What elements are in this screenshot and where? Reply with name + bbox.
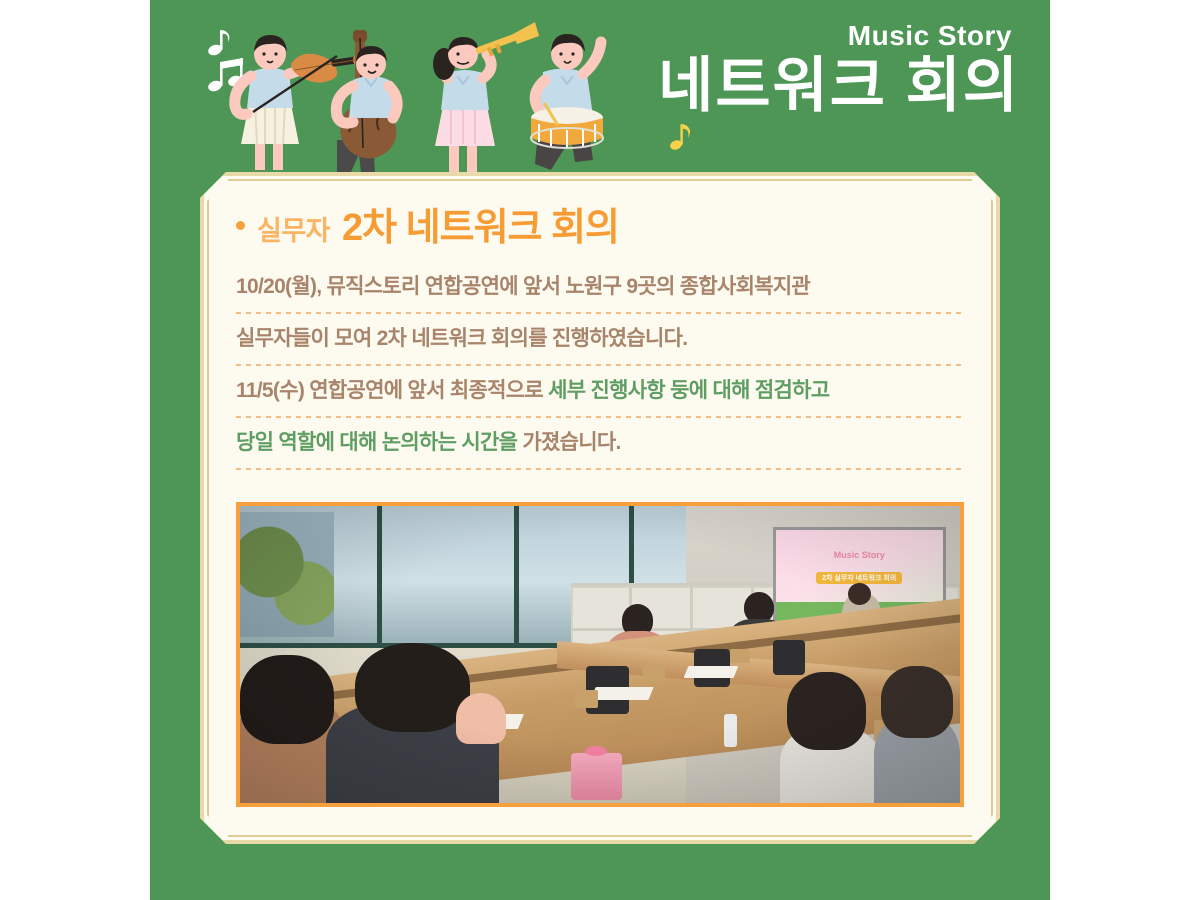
meeting-room-photo: Music Story 2차 실무자 네트워크 회의 <box>236 502 964 807</box>
cello-player <box>336 30 397 172</box>
body-line: 당일 역할에 대해 논의하는 시간을 가졌습니다. <box>236 426 964 478</box>
body-line-text: 실무자들이 모여 2차 네트워크 회의를 진행하였습니다. <box>236 322 964 356</box>
poster-header: Music Story 네트워크 회의 <box>150 0 1050 175</box>
photo-content: Music Story 2차 실무자 네트워크 회의 <box>240 506 960 803</box>
card-heading: 실무자 2차 네트워크 회의 <box>236 196 619 251</box>
trumpet-icon <box>475 22 539 56</box>
body-line: 10/20(월), 뮤직스토리 연합공연에 앞서 노원구 9곳의 종합사회복지관 <box>236 270 964 322</box>
card-heading-sub: 실무자 <box>257 209 330 248</box>
green-poster: Music Story 네트워크 회의 <box>150 0 1050 900</box>
dashed-rule <box>236 468 964 470</box>
music-note-title-icon <box>668 112 702 156</box>
content-card: 실무자 2차 네트워크 회의 10/20(월), 뮤직스토리 연합공연에 앞서 … <box>200 172 1000 844</box>
poster-canvas: Music Story 네트워크 회의 <box>0 0 1200 900</box>
bullet-icon <box>236 221 245 230</box>
header-title-group: Music Story 네트워크 회의 <box>550 22 1020 117</box>
body-line: 11/5(수) 연합공연에 앞서 최종적으로 세부 진행사항 둥에 대해 점검하… <box>236 374 964 426</box>
body-line-text: 11/5(수) 연합공연에 앞서 최종적으로 세부 진행사항 둥에 대해 점검하… <box>236 374 964 408</box>
dashed-rule <box>236 364 964 366</box>
header-eyebrow: Music Story <box>550 22 1012 50</box>
body-line-text: 당일 역할에 대해 논의하는 시간을 가졌습니다. <box>236 426 964 460</box>
header-title: 네트워크 회의 <box>658 54 1020 117</box>
dashed-rule <box>236 312 964 314</box>
trumpet-player <box>433 22 539 172</box>
body-line: 실무자들이 모여 2차 네트워크 회의를 진행하였습니다. <box>236 322 964 374</box>
body-line-text: 10/20(월), 뮤직스토리 연합공연에 앞서 노원구 9곳의 종합사회복지관 <box>236 270 964 304</box>
body-text-block: 10/20(월), 뮤직스토리 연합공연에 앞서 노원구 9곳의 종합사회복지관… <box>236 270 964 478</box>
card-heading-main: 2차 네트워크 회의 <box>342 196 619 251</box>
photo-vignette <box>240 506 960 803</box>
dashed-rule <box>236 416 964 418</box>
